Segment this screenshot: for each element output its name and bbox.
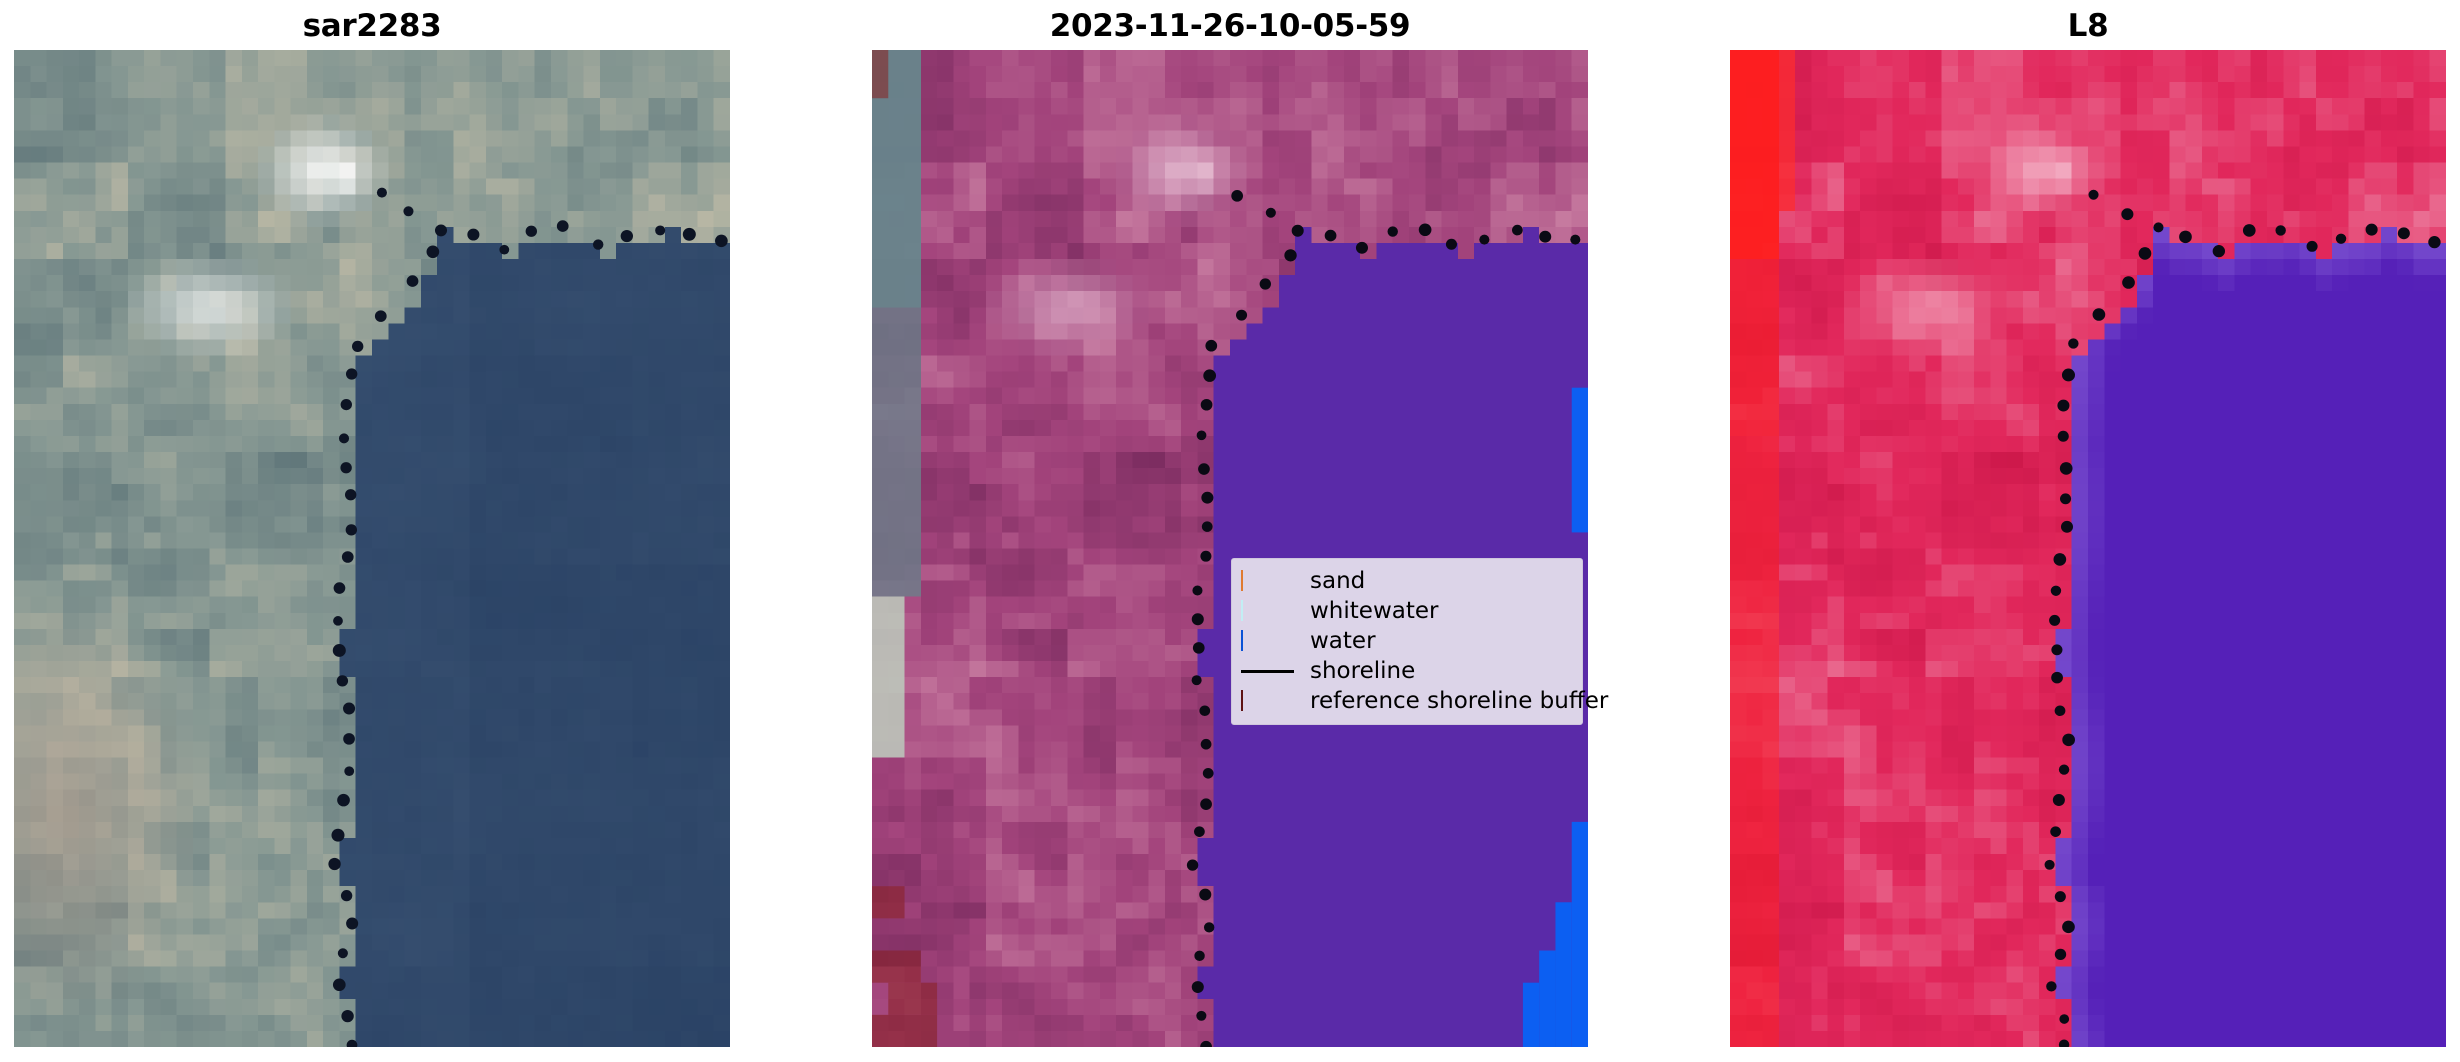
shoreline-dot (2055, 949, 2066, 960)
panel-image-2 (872, 50, 1588, 1047)
shoreline-dot (377, 188, 387, 198)
panel-title-2: 2023-11-26-10-05-59 (872, 6, 1588, 46)
shoreline-dot (467, 229, 479, 241)
shoreline-overlay (14, 50, 730, 1047)
shoreline-dot (2053, 794, 2065, 806)
panel-sar2283: sar2283 (14, 50, 730, 1047)
shoreline-dot (341, 399, 352, 410)
shoreline-dot (403, 206, 413, 216)
shoreline-dot (2243, 224, 2256, 237)
shoreline-dot (2093, 308, 2106, 321)
shoreline-dot (333, 616, 343, 626)
shoreline-dot (2055, 705, 2066, 716)
shoreline-dot (2046, 981, 2056, 991)
classified-water-cell (1555, 902, 1571, 1047)
shoreline-dot (352, 341, 363, 352)
shoreline-dot (2059, 1039, 2069, 1047)
legend-item-water: water (1241, 626, 1573, 656)
reference-buffer-cell (888, 983, 937, 1015)
shoreline-dot (2051, 672, 2063, 684)
shoreline-dot (2121, 208, 2133, 220)
shoreline-dot (2058, 431, 2069, 442)
shoreline-dot (427, 246, 440, 259)
legend-item-reference-shoreline-buffer: reference shoreline buffer (1241, 686, 1573, 716)
shoreline-dot (435, 224, 447, 236)
shoreline-dot (2060, 462, 2073, 475)
legend-swatch-water (1241, 631, 1294, 651)
shoreline-dot (621, 230, 633, 242)
shoreline-dot (341, 1010, 353, 1022)
legend-label-reference-shoreline-buffer: reference shoreline buffer (1310, 690, 1608, 713)
shoreline-dot (346, 368, 357, 379)
shoreline-dot (375, 310, 387, 322)
shoreline-dot (333, 978, 346, 991)
shoreline-dot (2062, 369, 2075, 382)
shoreline-dot (347, 1040, 358, 1047)
shoreline-dot (499, 245, 509, 255)
legend-item-whitewater: whitewater (1241, 596, 1573, 626)
panel-image-1 (14, 50, 730, 1047)
shoreline-dot (2336, 234, 2346, 244)
shoreline-dot (2051, 586, 2061, 596)
shoreline-dot (2428, 236, 2440, 248)
panel-title-3: L8 (1730, 6, 2446, 46)
shoreline-dot (2139, 247, 2152, 260)
reference-buffer-cell (872, 1015, 937, 1047)
legend-swatch-shoreline (1241, 661, 1294, 681)
classified-water-cell (1523, 983, 1539, 1047)
shoreline-dot (2088, 190, 2098, 200)
shoreline-dot (337, 675, 348, 686)
shoreline-dot (2179, 231, 2192, 244)
shoreline-dot (2051, 644, 2062, 655)
legend-item-shoreline: shoreline (1241, 656, 1573, 686)
shoreline-dot (344, 766, 354, 776)
shoreline-dot (2059, 1014, 2069, 1024)
shoreline-dot (557, 220, 569, 232)
shoreline-dot (337, 794, 350, 807)
classified-water-overlay (872, 50, 1588, 1047)
shoreline-dot (2049, 615, 2060, 626)
figure-root: sar2283 2023-11-26-10-05-59 L8 sand (0, 0, 2460, 1062)
shoreline-dot (341, 890, 352, 901)
panel-l8: L8 (1730, 50, 2446, 1047)
shoreline-dot (2061, 521, 2073, 533)
reference-buffer-cell (872, 951, 921, 983)
legend-swatch-whitewater (1241, 601, 1294, 621)
shoreline-dot (2060, 493, 2071, 504)
shoreline-dot (345, 489, 356, 500)
shoreline-dot (343, 703, 355, 715)
shoreline-dot (2307, 241, 2318, 252)
shoreline-dot (2062, 734, 2075, 747)
shoreline-dot (2055, 891, 2066, 902)
legend-swatch-sand (1241, 571, 1294, 591)
shoreline-dot (338, 948, 348, 958)
shoreline-dot (340, 462, 351, 473)
shoreline-dot (2045, 860, 2055, 870)
classified-water-cell (1572, 388, 1588, 533)
shoreline-dot (333, 644, 346, 657)
legend: sand whitewater water shoreline referenc (1231, 558, 1583, 725)
shoreline-dot (334, 582, 346, 594)
reference-buffer-cell (872, 50, 888, 98)
classified-water-cell (1539, 951, 1555, 1047)
shoreline-dot (339, 433, 349, 443)
legend-swatch-reference-shoreline-buffer (1241, 691, 1294, 711)
shoreline-dot (2057, 400, 2069, 412)
shoreline-dot (331, 829, 344, 842)
shoreline-dot (346, 524, 357, 535)
shoreline-dot (2213, 245, 2225, 257)
legend-label-whitewater: whitewater (1310, 600, 1438, 623)
panel-title-1: sar2283 (14, 6, 730, 46)
legend-label-shoreline: shoreline (1310, 660, 1415, 683)
shoreline-dot (2068, 338, 2078, 348)
shoreline-dot (328, 858, 340, 870)
shoreline-overlay (1730, 50, 2446, 1047)
shoreline-dot (655, 225, 665, 235)
shoreline-dot (715, 235, 728, 248)
shoreline-dot (683, 228, 696, 241)
shoreline-dot (2398, 227, 2410, 239)
panel-image-3 (1730, 50, 2446, 1047)
shoreline-dot (526, 226, 537, 237)
legend-label-sand: sand (1310, 570, 1365, 593)
shoreline-dot (2275, 225, 2285, 235)
shoreline-dot (2062, 921, 2075, 934)
shoreline-dot (342, 551, 354, 563)
shoreline-dot (2153, 222, 2163, 232)
reference-buffer-cell (872, 886, 905, 918)
shoreline-dot (407, 275, 419, 287)
shoreline-dot (2059, 764, 2069, 774)
legend-label-water: water (1310, 630, 1376, 653)
shoreline-dot (2050, 826, 2061, 837)
shoreline-dot (2054, 553, 2067, 566)
shoreline-dot (2366, 224, 2378, 236)
panel-2023-11-26-10-05-59: 2023-11-26-10-05-59 (872, 50, 1588, 1047)
shoreline-dot (593, 239, 603, 249)
shoreline-dot (346, 918, 358, 930)
legend-item-sand: sand (1241, 566, 1573, 596)
shoreline-dot (343, 733, 355, 745)
shoreline-dot (2122, 276, 2135, 289)
classified-water-cell (1572, 822, 1588, 1047)
